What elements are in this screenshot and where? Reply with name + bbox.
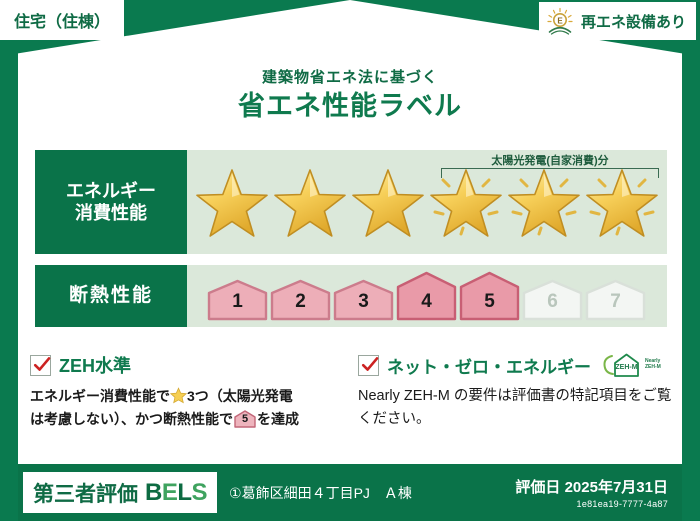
insulation-level-value: 7 [610,291,621,321]
zeh-m-logo: ZEH-M Nearly ZEH-M [601,352,661,378]
project-name: ①葛飾区細田４丁目PJ Ａ棟 [229,483,412,503]
evaluation-date: 評価日 2025年7月31日 [515,476,668,497]
third-party-eval-label: 第三者評価 [33,478,138,508]
bels-letter: S [192,479,208,506]
inline-insulation-badge-value: 5 [234,410,256,428]
insulation-level-badge: 6 [522,279,583,321]
bels-letter: L [177,479,191,506]
energy-star [193,164,271,240]
bels-wordmark: BELS [145,479,207,507]
net-zero-energy-description: Nearly ZEH-M の要件は評価書の特記項目をご覧ください。 [358,385,678,432]
document-code: 1e81ea19-7777-4a87 [515,499,668,509]
energy-performance-row: エネルギー 消費性能 太陽光発電(自家消費)分 [35,150,667,254]
insulation-level-value: 3 [358,291,369,321]
energy-star-rating [187,150,667,254]
inline-star-icon [170,387,187,404]
energy-label-line2: 消費性能 [75,202,147,225]
net-zero-energy-title: ネット・ゼロ・エネルギー [387,353,591,378]
bels-energy-label: 住宅（住棟） E 再エネ設備あり 建築物省エネ [0,0,700,521]
insulation-level-value: 4 [421,291,432,321]
zeh-desc-part3: を達成 [257,411,299,427]
energy-star [427,164,505,240]
energy-performance-label: エネルギー 消費性能 [35,150,187,254]
category-tag: 住宅（住棟） [0,0,124,40]
insulation-performance-row: 断熱性能 1 2 3 4 [35,265,667,327]
insulation-level-badge: 4 [396,271,457,321]
net-zero-energy-block: ネット・ゼロ・エネルギー ZEH-M Nearly ZEH-M Nearly Z… [358,352,678,432]
inline-insulation-badge: 5 [234,410,256,428]
net-zero-energy-heading: ネット・ゼロ・エネルギー ZEH-M Nearly ZEH-M [358,352,678,378]
insulation-level-value: 6 [547,291,558,321]
zeh-standard-heading: ZEH水準 [30,352,350,378]
zeh-m-house-icon: ZEH-M [601,352,643,378]
page-title: 省エネ性能ラベル [0,84,700,123]
insulation-level-badge: 2 [270,279,331,321]
zeh-m-logo-sub: Nearly ZEH-M [645,359,661,371]
energy-label-line1: エネルギー [66,180,156,203]
zeh-m-sub-line2: ZEH-M [645,364,661,370]
evaluation-info: 評価日 2025年7月31日 1e81ea19-7777-4a87 [515,476,668,509]
zeh-desc-part2: は考慮しない）、かつ断熱性能で [30,411,233,427]
bels-certification-tag: 第三者評価 BELS [23,472,217,513]
sun-renewable-icon: E [545,7,575,35]
energy-star [583,164,661,240]
insulation-level-badge: 3 [333,279,394,321]
bels-letter: E [162,479,178,506]
zeh-m-logo-text: ZEH-M [615,364,637,371]
check-icon [32,355,52,375]
zeh-standard-title: ZEH水準 [59,352,131,378]
category-tag-label: 住宅（住棟） [14,8,110,32]
insulation-level-badge: 7 [585,279,646,321]
zeh-desc-part1: エネルギー消費性能で [30,388,170,404]
insulation-level-badge: 1 [207,279,268,321]
energy-performance-body: 太陽光発電(自家消費)分 [187,150,667,254]
insulation-level-value: 2 [295,291,306,321]
bels-letter: B [145,479,162,506]
insulation-level-value: 1 [232,291,243,321]
net-zero-energy-checkbox[interactable] [358,355,379,376]
zeh-standard-checkbox[interactable] [30,355,51,376]
insulation-level-badge: 5 [459,271,520,321]
zeh-standard-description: エネルギー消費性能で 3つ（太陽光発電 は考慮しない）、かつ断熱性能で 5 を達… [30,385,350,430]
evaluation-date-label: 評価日 [515,479,560,496]
insulation-level-badges: 1 2 3 4 5 [187,265,667,327]
energy-star [505,164,583,240]
zeh-desc-stars: 3つ（太陽光発電 [187,388,293,404]
insulation-performance-body: 1 2 3 4 5 [187,265,667,327]
energy-star [349,164,427,240]
insulation-performance-label: 断熱性能 [35,265,187,327]
renewable-badge-label: 再エネ設備あり [581,11,686,32]
footer-bar: 第三者評価 BELS ①葛飾区細田４丁目PJ Ａ棟 評価日 2025年7月31日… [18,464,682,521]
insulation-level-value: 5 [484,291,495,321]
check-icon [360,355,380,375]
energy-star [271,164,349,240]
svg-text:E: E [557,16,563,25]
insulation-label-text: 断熱性能 [69,284,153,308]
zeh-standard-block: ZEH水準 エネルギー消費性能で 3つ（太陽光発電 は考慮しない）、かつ断熱性能… [30,352,350,430]
evaluation-date-value: 2025年7月31日 [565,479,668,496]
renewable-energy-badge: E 再エネ設備あり [539,2,696,40]
